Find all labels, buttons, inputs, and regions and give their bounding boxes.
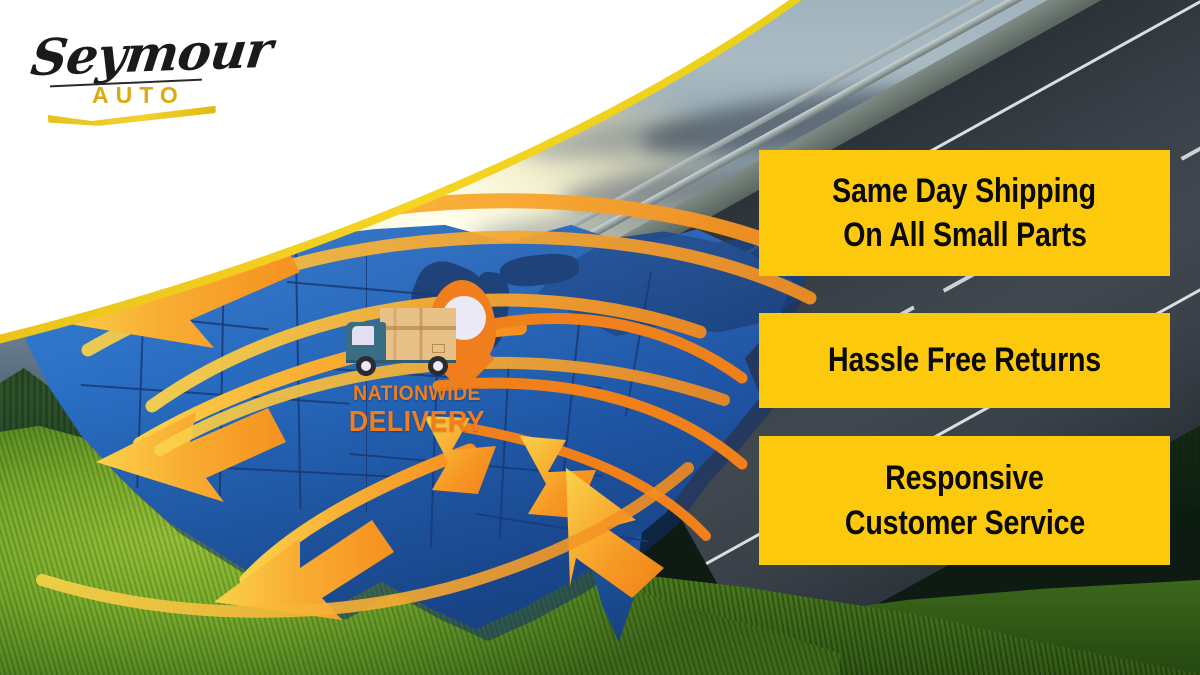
nationwide-delivery-badge: NATIONWIDE DELIVERY <box>332 278 502 448</box>
feature-line: Responsive <box>885 456 1044 500</box>
truck-wheel <box>428 356 448 376</box>
feature-line: Hassle Free Returns <box>828 338 1101 382</box>
logo-script-name: Seymour <box>28 20 275 87</box>
badge-line-nationwide: NATIONWIDE <box>339 382 495 406</box>
feature-box-hassle-free-returns[interactable]: Hassle Free Returns <box>759 313 1170 408</box>
feature-line: Same Day Shipping <box>833 169 1097 213</box>
promo-banner: NATIONWIDE DELIVERY Seymour AUTO Same Da… <box>0 0 1200 675</box>
badge-line-delivery: DELIVERY <box>339 406 495 439</box>
feature-line: Customer Service <box>844 501 1084 545</box>
feature-line: On All Small Parts <box>843 213 1087 257</box>
seymour-auto-logo[interactable]: Seymour AUTO <box>30 22 230 122</box>
feature-box-responsive-customer-service[interactable]: Responsive Customer Service <box>759 436 1170 565</box>
truck-window <box>352 326 374 345</box>
feature-box-same-day-shipping[interactable]: Same Day Shipping On All Small Parts <box>759 150 1170 276</box>
truck-vent <box>432 344 445 353</box>
logo-auto-word: AUTO <box>92 82 185 109</box>
truck-wheel <box>356 356 376 376</box>
